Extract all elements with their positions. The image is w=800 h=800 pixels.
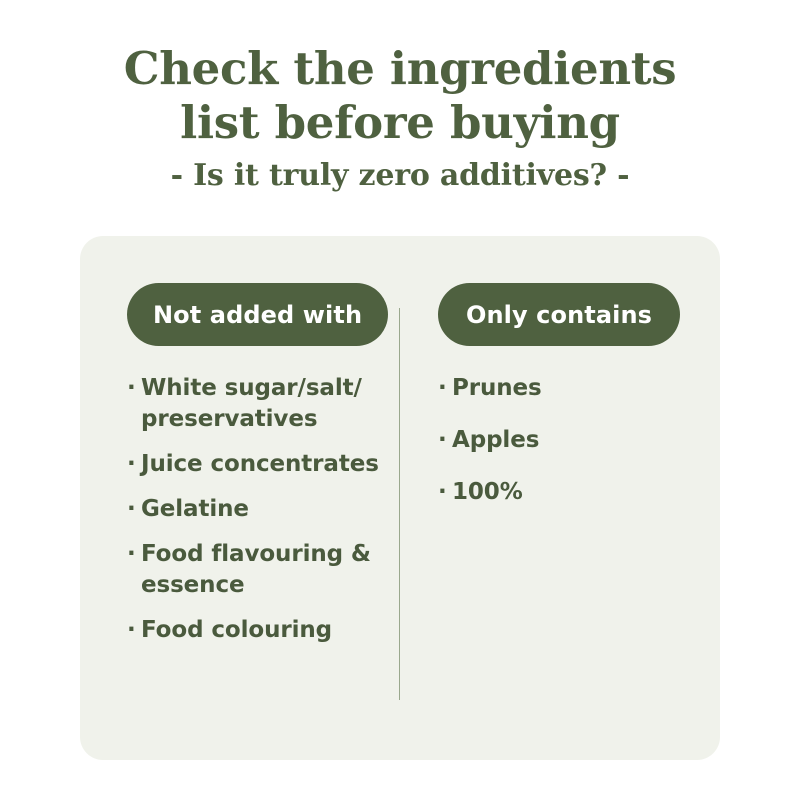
list-item-label: White sugar/salt/ preservatives — [141, 373, 381, 435]
list-item-label: Juice concentrates — [141, 449, 381, 480]
heading-block: Check the ingredients list before buying… — [0, 42, 800, 195]
list-item: · Prunes — [438, 373, 720, 404]
list-item-label: Prunes — [452, 373, 662, 404]
list-item-label: Gelatine — [141, 494, 381, 525]
bullet-icon: · — [127, 539, 141, 570]
list-item-label: 100% — [452, 477, 662, 508]
list-item: · Juice concentrates — [127, 449, 399, 480]
page-subtitle: - Is it truly zero additives? - — [0, 157, 800, 195]
bullet-icon: · — [127, 615, 141, 646]
pill-not-added-with: Not added with — [127, 283, 388, 346]
pill-only-contains: Only contains — [438, 283, 680, 346]
bullet-icon: · — [127, 449, 141, 480]
list-item-label: Food colouring — [141, 615, 381, 646]
bullet-icon: · — [438, 477, 452, 508]
list-item: · 100% — [438, 477, 720, 508]
list-item-label: Apples — [452, 425, 662, 456]
bullet-icon: · — [438, 425, 452, 456]
page-title-line-2: list before buying — [0, 96, 800, 150]
bullet-icon: · — [127, 494, 141, 525]
list-item: · White sugar/salt/ preservatives — [127, 373, 399, 435]
column-only-contains: Only contains · Prunes · Apples · 100% — [399, 236, 720, 760]
list-item: · Gelatine — [127, 494, 399, 525]
page-title: Check the ingredients list before buying — [0, 42, 800, 150]
poster-canvas: Check the ingredients list before buying… — [0, 0, 800, 800]
comparison-card: Not added with · White sugar/salt/ prese… — [80, 236, 720, 760]
list-item: · Apples — [438, 425, 720, 456]
comparison-columns: Not added with · White sugar/salt/ prese… — [80, 236, 720, 760]
bullet-icon: · — [127, 373, 141, 404]
column-not-added-with: Not added with · White sugar/salt/ prese… — [80, 236, 399, 760]
list-item: · Food colouring — [127, 615, 399, 646]
list-only-contains: · Prunes · Apples · 100% — [438, 373, 720, 508]
page-title-line-1: Check the ingredients — [0, 42, 800, 96]
list-item-label: Food flavouring & essence — [141, 539, 381, 601]
bullet-icon: · — [438, 373, 452, 404]
list-item: · Food flavouring & essence — [127, 539, 399, 601]
list-not-added-with: · White sugar/salt/ preservatives · Juic… — [127, 373, 399, 646]
